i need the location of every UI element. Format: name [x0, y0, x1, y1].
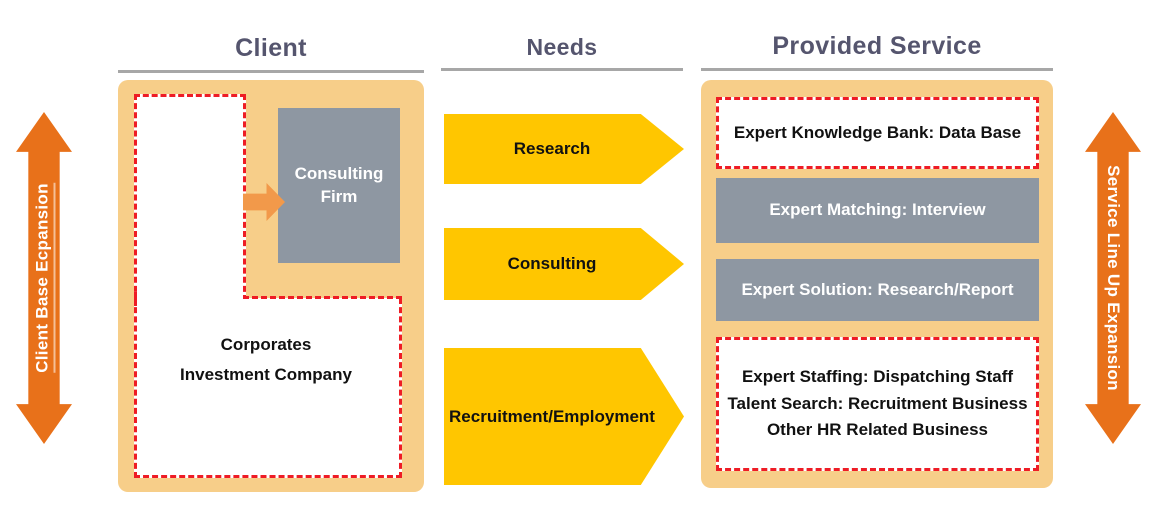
client-caption: Corporates Investment Company: [140, 330, 392, 390]
consulting-firm-label: Consulting Firm: [295, 163, 384, 207]
client-dashed-region-upper: [134, 94, 246, 301]
client-dashed-seam-left-edge: [134, 292, 137, 306]
column-header-provided-service-label: Provided Service: [701, 34, 1053, 68]
service-box-expert-knowledge-bank: Expert Knowledge Bank: Data Base: [716, 97, 1039, 169]
consulting-firm-box: Consulting Firm: [278, 108, 400, 263]
service-box-expert-staffing: Expert Staffing: Dispatching Staff Talen…: [716, 337, 1039, 471]
column-header-needs-label: Needs: [441, 36, 683, 68]
column-header-needs: Needs: [441, 36, 683, 71]
needs-arrow-consulting: Consulting: [444, 228, 684, 300]
needs-arrow-recruitment-employment-label: Recruitment/Employment: [449, 407, 655, 427]
column-header-client: Client: [118, 36, 424, 73]
column-header-client-label: Client: [118, 36, 424, 70]
client-base-expansion-label: Client Base Ecpansion: [33, 183, 56, 373]
client-caption-label: Corporates Investment Company: [180, 335, 352, 384]
client-dashed-seam-patch: [137, 294, 243, 304]
client-dashed-seam-top-edge: [243, 296, 402, 299]
service-line-up-expansion-label: Service Line Up Expansion: [1103, 165, 1123, 391]
service-box-expert-knowledge-bank-label: Expert Knowledge Bank: Data Base: [734, 120, 1021, 147]
needs-arrow-research: Research: [444, 114, 684, 184]
needs-arrow-consulting-label: Consulting: [508, 254, 597, 274]
service-box-expert-solution-label: Expert Solution: Research/Report: [741, 277, 1013, 304]
column-header-provided-service-rule: [701, 68, 1053, 71]
diagram-canvas: Client Needs Provided Service Client Bas…: [0, 0, 1164, 511]
service-box-expert-staffing-label: Expert Staffing: Dispatching Staff Talen…: [727, 364, 1027, 445]
service-box-expert-matching: Expert Matching: Interview: [716, 178, 1039, 243]
column-header-provided-service: Provided Service: [701, 34, 1053, 71]
service-line-up-expansion-arrow: Service Line Up Expansion: [1085, 112, 1141, 444]
column-header-client-rule: [118, 70, 424, 73]
service-box-expert-solution: Expert Solution: Research/Report: [716, 259, 1039, 321]
needs-arrow-recruitment-employment: Recruitment/Employment: [444, 348, 684, 485]
needs-arrow-research-label: Research: [514, 139, 591, 159]
service-box-expert-matching-label: Expert Matching: Interview: [769, 197, 985, 224]
column-header-needs-rule: [441, 68, 683, 71]
client-base-expansion-arrow: Client Base Ecpansion: [16, 112, 72, 444]
